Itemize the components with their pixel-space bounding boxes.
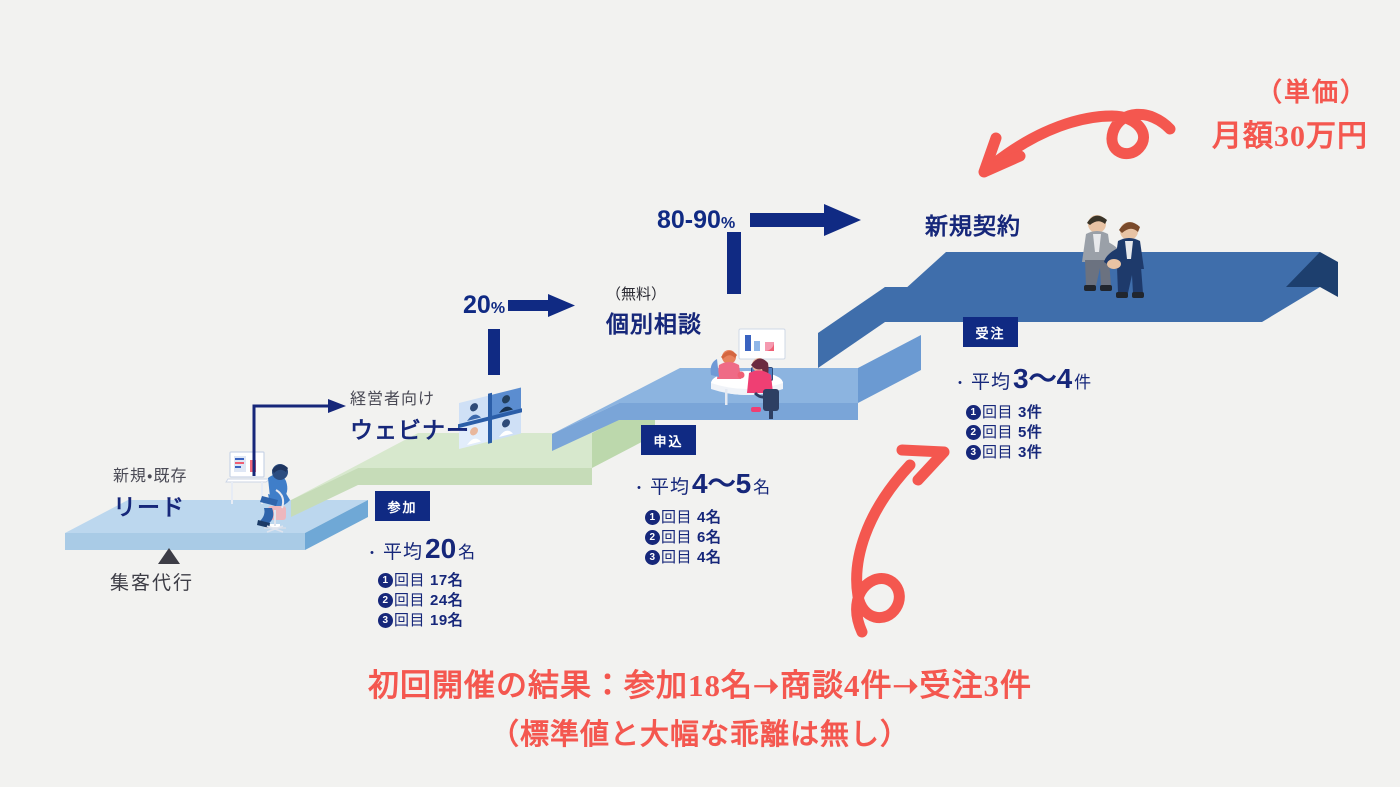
consultation-sub-label: （無料）: [606, 283, 702, 304]
webinar-average-prefix: 平均: [383, 537, 423, 564]
round-label: 回目: [394, 591, 425, 611]
round-value: 4名: [697, 508, 721, 528]
contract-round-list: 1 回目 3件 2 回目 5件 3 回目 3件: [966, 403, 1092, 462]
badge-order: 受注: [963, 317, 1018, 347]
round-value: 24名: [430, 591, 463, 611]
round-value: 4名: [697, 548, 721, 568]
webinar-sub-label: 経営者向け: [350, 385, 470, 409]
webinar-average-value: 20: [425, 533, 456, 565]
list-item: 2 回目 6名: [645, 528, 771, 548]
round-number-badge: 2: [645, 530, 660, 545]
round-value: 6名: [697, 528, 721, 548]
round-label: 回目: [394, 611, 425, 631]
consultation-average-prefix: 平均: [650, 472, 690, 499]
conversion-80-90-value: 80-90: [657, 206, 721, 234]
round-label: 回目: [982, 423, 1013, 443]
result-line-2: （標準値と大幅な乖離は無し）: [0, 711, 1400, 753]
stage-lead-labels: 新規・既存 リード: [113, 462, 187, 522]
round-number-badge: 1: [645, 510, 660, 525]
round-number-badge: 3: [645, 550, 660, 565]
round-value: 17名: [430, 571, 463, 591]
list-item: 2 回目 5件: [966, 423, 1092, 443]
contract-average-value: 3〜4: [1013, 357, 1072, 397]
round-number-badge: 2: [966, 425, 981, 440]
round-value: 3件: [1018, 443, 1042, 463]
consultation-round-list: 1 回目 4名 2 回目 6名 3 回目 4名: [645, 508, 771, 567]
round-value: 19名: [430, 611, 463, 631]
round-number-badge: 3: [966, 445, 981, 460]
bullet-dot: ・: [632, 478, 647, 498]
webinar-stats: ・ 平均 20 名 1 回目 17名 2 回目 24名 3 回目 19名: [365, 533, 476, 630]
round-label: 回目: [394, 571, 425, 591]
consultation-average-unit: 名: [753, 473, 771, 498]
consultation-main-label: 個別相談: [606, 305, 702, 339]
badge-application: 申込: [641, 425, 696, 455]
list-item: 1 回目 3件: [966, 403, 1092, 423]
round-value: 5件: [1018, 423, 1042, 443]
red-arrow-to-order-stats: [857, 450, 944, 632]
webinar-average: ・ 平均 20 名: [365, 533, 476, 565]
stage-webinar-labels: 経営者向け ウェビナー: [350, 385, 470, 445]
bullet-dot: ・: [953, 373, 968, 393]
conversion-rate-20: 20%: [463, 291, 505, 320]
list-item: 1 回目 4名: [645, 508, 771, 528]
round-number-badge: 1: [966, 405, 981, 420]
bullet-dot: ・: [365, 543, 380, 563]
list-item: 3 回目 19名: [378, 611, 476, 631]
unit-price-value: 月額30万円: [1188, 111, 1368, 155]
round-number-badge: 3: [378, 613, 393, 628]
funnel-diagram: 新規・既存 リード 集客代行 経営者向け ウェビナー 参加 ・ 平均 20 名 …: [0, 0, 1400, 787]
round-label: 回目: [982, 443, 1013, 463]
conversion-20-suffix: %: [491, 300, 505, 317]
result-annotation: 初回開催の結果：参加18名➝商談4件➝受注3件 （標準値と大幅な乖離は無し）: [0, 660, 1400, 753]
round-label: 回目: [661, 508, 692, 528]
list-item: 3 回目 3件: [966, 443, 1092, 463]
contract-stats: ・ 平均 3〜4 件 1 回目 3件 2 回目 5件 3 回目 3件: [953, 357, 1092, 462]
round-number-badge: 1: [378, 573, 393, 588]
contract-main-label: 新規契約: [925, 207, 1021, 241]
lead-main-label: リード: [113, 488, 187, 522]
contract-average-unit: 件: [1074, 368, 1092, 393]
result-line-1: 初回開催の結果：参加18名➝商談4件➝受注3件: [0, 660, 1400, 705]
consultation-stats: ・ 平均 4〜5 名 1 回目 4名 2 回目 6名 3 回目 4名: [632, 462, 771, 567]
round-label: 回目: [661, 528, 692, 548]
unit-price-paren: （単価）: [1188, 72, 1368, 109]
webinar-main-label: ウェビナー: [350, 411, 470, 445]
webinar-average-unit: 名: [458, 538, 476, 563]
red-arrow-to-contract: [984, 114, 1170, 172]
lead-sub-label: 新規・既存: [113, 462, 187, 486]
contract-average-prefix: 平均: [971, 367, 1011, 394]
unit-price-annotation: （単価） 月額30万円: [1188, 72, 1368, 155]
list-item: 2 回目 24名: [378, 591, 476, 611]
webinar-round-list: 1 回目 17名 2 回目 24名 3 回目 19名: [378, 571, 476, 630]
consultation-average: ・ 平均 4〜5 名: [632, 462, 771, 502]
stage-consultation-labels: （無料） 個別相談: [606, 283, 702, 339]
badge-participation: 参加: [375, 491, 430, 521]
consultation-average-value: 4〜5: [692, 462, 751, 502]
round-number-badge: 2: [378, 593, 393, 608]
list-item: 3 回目 4名: [645, 548, 771, 568]
conversion-80-90-suffix: %: [721, 215, 735, 232]
round-value: 3件: [1018, 403, 1042, 423]
conversion-20-value: 20: [463, 291, 491, 319]
list-item: 1 回目 17名: [378, 571, 476, 591]
round-label: 回目: [661, 548, 692, 568]
lead-source-label: 集客代行: [110, 568, 194, 595]
conversion-rate-80-90: 80-90%: [657, 206, 735, 235]
contract-average: ・ 平均 3〜4 件: [953, 357, 1092, 397]
round-label: 回目: [982, 403, 1013, 423]
